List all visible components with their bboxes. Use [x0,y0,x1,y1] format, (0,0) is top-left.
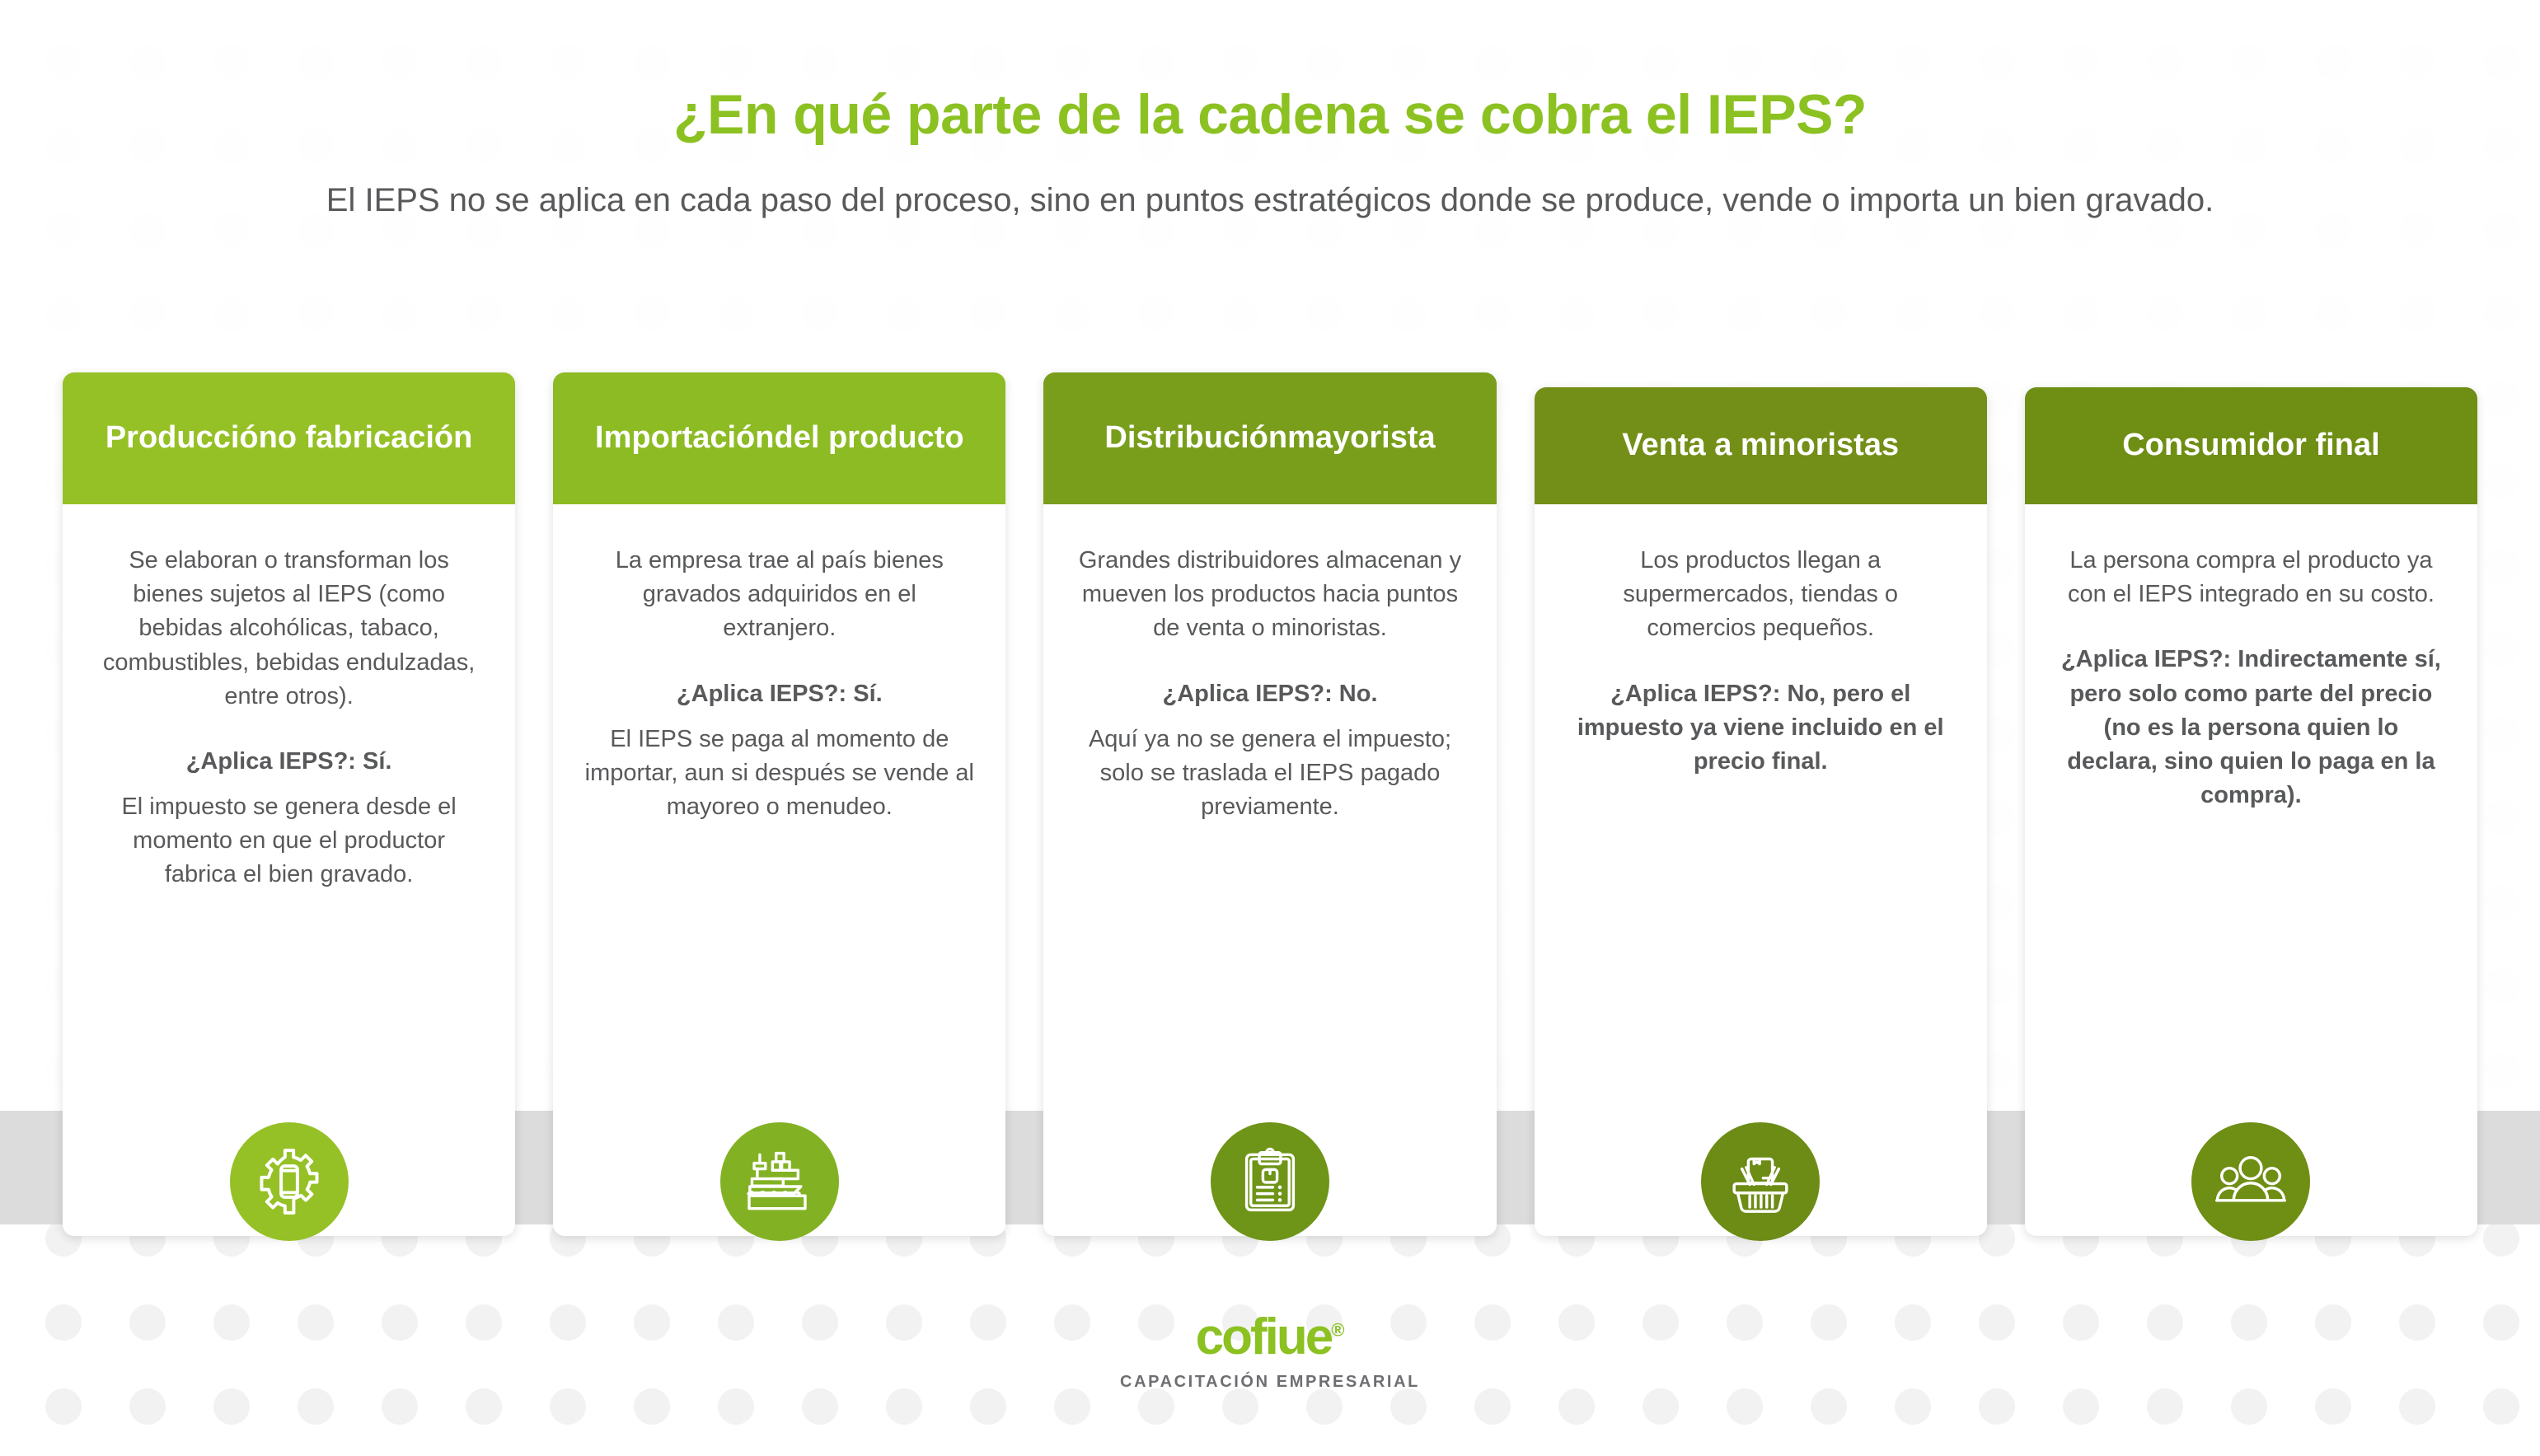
stage-card-title-line2: del producto [774,419,963,457]
stage-card-header: Consumidor final [2025,387,2477,504]
gear-can-icon [230,1122,349,1241]
stage-card-description: Los productos llegan a supermercados, ti… [1566,544,1956,646]
stage-card-venta-a-minoristas[interactable]: Venta a minoristasLos productos llegan a… [1535,387,1987,1236]
stage-card-verdict: ¿Aplica IEPS?: No, pero el impuesto ya v… [1566,677,1956,779]
page-subtitle: El IEPS no se aplica en cada paso del pr… [248,179,2292,222]
page-title: ¿En qué parte de la cadena se cobra el I… [0,86,2540,144]
stage-card-icon-spacer [94,892,484,1016]
stage-card-importacion-del-producto[interactable]: Importacióndel productoLa empresa trae a… [553,372,1005,1236]
stage-card-title: Consumidor final [2122,426,2379,465]
stage-card-verdict: ¿Aplica IEPS?: Indirectamente sí, pero s… [2056,643,2446,812]
stage-card-header: Distribuciónmayorista [1043,372,1496,504]
logo-text: cofiue [1196,1309,1332,1365]
stage-card-description: Grandes distribuidores almacenan y mueve… [1075,544,1464,646]
cargo-ship-icon [720,1122,839,1241]
stage-card-header: Venta a minoristas [1535,387,1987,504]
registered-trademark-icon: ® [1331,1319,1344,1340]
stage-card-consumidor-final[interactable]: Consumidor finalLa persona compra el pro… [2025,387,2477,1236]
stage-card-produccion-o-fabricacion[interactable]: Produccióno fabricaciónSe elaboran o tra… [63,372,515,1236]
header-block: ¿En qué parte de la cadena se cobra el I… [0,0,2540,222]
stage-card-description: La empresa trae al país bienes gravados … [584,544,974,646]
stage-card-header: Produccióno fabricación [63,372,515,504]
stage-card-note: El impuesto se genera desde el momento e… [94,790,484,892]
people-group-icon [2191,1122,2310,1241]
stage-card-verdict: ¿Aplica IEPS?: Sí. [94,745,484,779]
stage-card-distribucion-mayorista[interactable]: DistribuciónmayoristaGrandes distribuido… [1043,372,1496,1236]
stage-card-icon-spacer [1075,824,1464,948]
stage-cards-row: Produccióno fabricaciónSe elaboran o tra… [63,372,2477,1246]
stage-card-verdict: ¿Aplica IEPS?: No. [1075,677,1464,711]
stage-card-title: Importación [595,419,774,457]
clipboard-box-icon [1211,1122,1329,1241]
stage-card-title: Distribución [1104,419,1287,457]
stage-card-note: El IEPS se paga al momento de importar, … [584,723,974,825]
shopping-basket-icon [1701,1122,1820,1241]
cofide-logo-wordmark: cofiue® [1196,1312,1345,1363]
stage-card-icon-spacer [1566,779,1956,902]
stage-card-title-line2: o fabricación [278,419,473,457]
footer-logo: cofiue® CAPACITACIÓN EMPRESARIAL [0,1312,2540,1392]
stage-card-title: Producción [105,419,278,457]
stage-card-verdict: ¿Aplica IEPS?: Sí. [584,677,974,711]
stage-card-icon-spacer [2056,812,2446,936]
stage-card-title-line2: mayorista [1287,419,1436,457]
stage-card-header: Importacióndel producto [553,372,1005,504]
logo-tagline: CAPACITACIÓN EMPRESARIAL [0,1373,2540,1392]
stage-card-description: Se elaboran o transforman los bienes suj… [94,544,484,714]
stage-card-note: Aquí ya no se genera el impuesto; solo s… [1075,723,1464,825]
stage-card-description: La persona compra el producto ya con el … [2056,544,2446,611]
stage-card-icon-spacer [584,824,974,948]
stage-card-title: Venta a minoristas [1622,426,1899,465]
